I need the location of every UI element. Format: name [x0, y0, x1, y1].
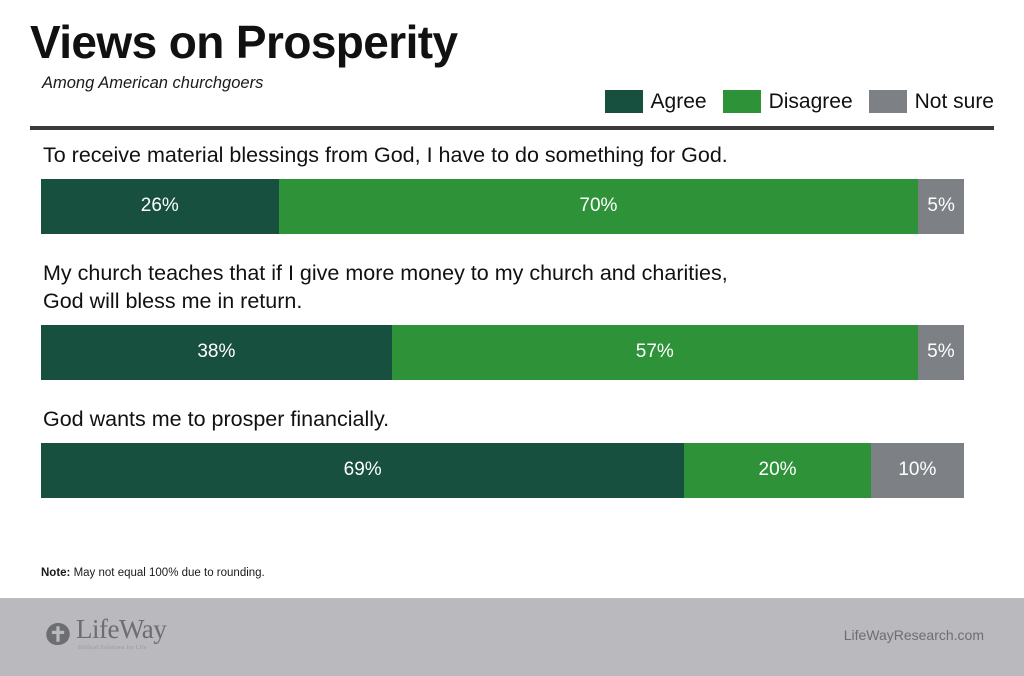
page-title: Views on Prosperity — [30, 18, 994, 66]
infographic-root: Views on Prosperity Among American churc… — [0, 0, 1024, 676]
question-text: My church teaches that if I give more mo… — [43, 260, 964, 316]
legend-item-disagree: Disagree — [723, 90, 853, 113]
legend-label: Not sure — [915, 91, 994, 112]
legend-label: Disagree — [769, 91, 853, 112]
question-text: To receive material blessings from God, … — [43, 142, 964, 170]
legend: AgreeDisagreeNot sure — [605, 90, 994, 113]
block-spacer — [41, 380, 964, 406]
legend-label: Agree — [651, 91, 707, 112]
legend-item-agree: Agree — [605, 90, 707, 113]
question-block: God wants me to prosper financially.69%2… — [41, 406, 964, 498]
lifeway-wordmark: LifeWay Biblical Solutions for Life — [76, 616, 166, 651]
footnote: Note: May not equal 100% due to rounding… — [41, 567, 265, 579]
bar-segment-not-sure: 5% — [918, 325, 964, 380]
footnote-text: May not equal 100% due to rounding. — [70, 567, 264, 579]
stacked-bar: 69%20%10% — [41, 443, 964, 498]
bar-segment-disagree: 57% — [392, 325, 918, 380]
legend-swatch-not-sure — [869, 90, 907, 113]
block-spacer — [41, 234, 964, 260]
bar-segment-agree: 69% — [41, 443, 684, 498]
question-text: God wants me to prosper financially. — [43, 406, 964, 434]
lifeway-logo-tagline: Biblical Solutions for Life — [78, 645, 166, 651]
footnote-label: Note: — [41, 567, 70, 579]
footer-website: LifeWayResearch.com — [844, 627, 984, 643]
bar-segment-disagree: 70% — [279, 179, 919, 234]
bar-segment-agree: 38% — [41, 325, 392, 380]
question-block: To receive material blessings from God, … — [41, 142, 964, 234]
header-divider — [30, 126, 994, 130]
question-blocks: To receive material blessings from God, … — [41, 142, 964, 498]
header: Views on Prosperity Among American churc… — [30, 18, 994, 128]
lifeway-logo: LifeWay Biblical Solutions for Life — [45, 616, 166, 651]
bar-segment-disagree: 20% — [684, 443, 870, 498]
lifeway-cross-leaf-icon — [45, 621, 71, 647]
bar-segment-agree: 26% — [41, 179, 279, 234]
legend-swatch-disagree — [723, 90, 761, 113]
question-block: My church teaches that if I give more mo… — [41, 260, 964, 380]
legend-swatch-agree — [605, 90, 643, 113]
stacked-bar: 26%70%5% — [41, 179, 964, 234]
bar-segment-not-sure: 5% — [918, 179, 964, 234]
legend-item-not-sure: Not sure — [869, 90, 994, 113]
footer-bar: LifeWay Biblical Solutions for Life Life… — [0, 598, 1024, 676]
stacked-bar: 38%57%5% — [41, 325, 964, 380]
bar-segment-not-sure: 10% — [871, 443, 964, 498]
lifeway-logo-text: LifeWay — [76, 616, 166, 643]
